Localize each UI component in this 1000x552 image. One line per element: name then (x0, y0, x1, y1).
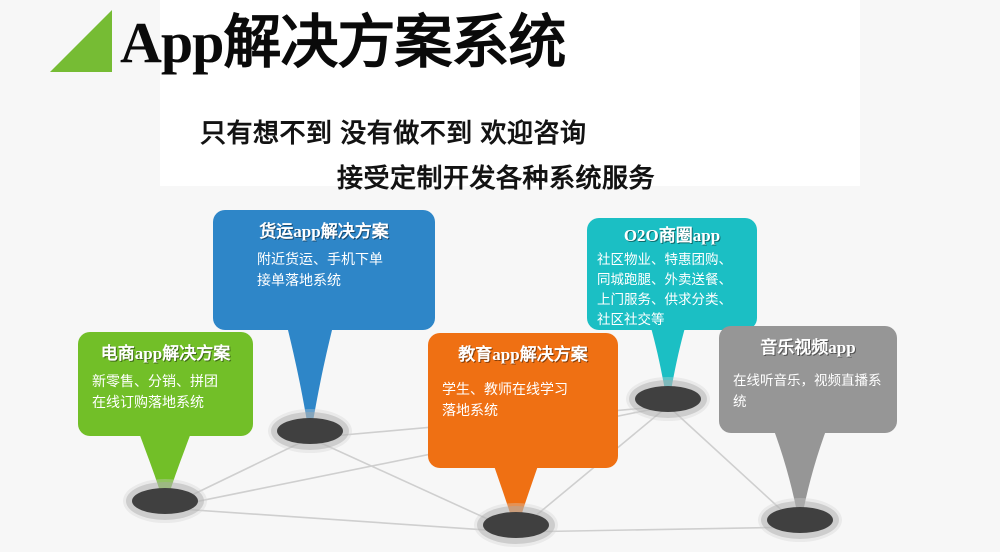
pin-base (635, 386, 701, 412)
card-body-o2o: 社区物业、特惠团购、 同城跑腿、外卖送餐、 上门服务、供求分类、 社区社交等 (597, 250, 747, 330)
card-education[interactable]: 教育app解决方案 学生、教师在线学习 落地系统 (428, 333, 618, 468)
card-body-freight: 附近货运、手机下单 接单落地系统 (257, 249, 421, 291)
header-subtitle-line-1: 只有想不到 没有做不到 欢迎咨询 (200, 113, 586, 150)
pin-education (473, 512, 559, 538)
pin-o2o (625, 386, 711, 412)
card-title-ecommerce: 电商app解决方案 (92, 342, 239, 366)
card-o2o[interactable]: O2O商圈app 社区物业、特惠团购、 同城跑腿、外卖送餐、 上门服务、供求分类… (587, 218, 757, 330)
card-title-o2o: O2O商圈app (597, 224, 747, 248)
pin-base (132, 488, 198, 514)
connector-pin-ecommerce-pin-education (165, 508, 516, 532)
card-body-music-video: 在线听音乐，视频直播系统 (733, 370, 883, 412)
card-ecommerce[interactable]: 电商app解决方案 新零售、分销、拼团 在线订购落地系统 (78, 332, 253, 436)
card-title-education: 教育app解决方案 (442, 343, 604, 367)
slide-canvas: App解决方案系统 只有想不到 没有做不到 欢迎咨询 接受定制开发各种系统服务 … (0, 0, 1000, 552)
card-body-ecommerce: 新零售、分销、拼团 在线订购落地系统 (92, 371, 239, 413)
card-title-music-video: 音乐视频app (733, 336, 883, 360)
card-freight[interactable]: 货运app解决方案 附近货运、手机下单 接单落地系统 (213, 210, 435, 330)
pin-ecommerce (122, 488, 208, 514)
card-body-education: 学生、教师在线学习 落地系统 (442, 379, 604, 421)
card-music-video[interactable]: 音乐视频app 在线听音乐，视频直播系统 (719, 326, 897, 433)
pin-base (767, 507, 833, 533)
pin-freight (267, 418, 353, 444)
page-title: App解决方案系统 (120, 8, 565, 78)
pin-base (277, 418, 343, 444)
pin-music-video (757, 507, 843, 533)
card-title-freight: 货运app解决方案 (227, 220, 421, 244)
pin-base (483, 512, 549, 538)
green-triangle-accent-icon (50, 10, 112, 72)
header-subtitle-line-2: 接受定制开发各种系统服务 (337, 158, 655, 195)
